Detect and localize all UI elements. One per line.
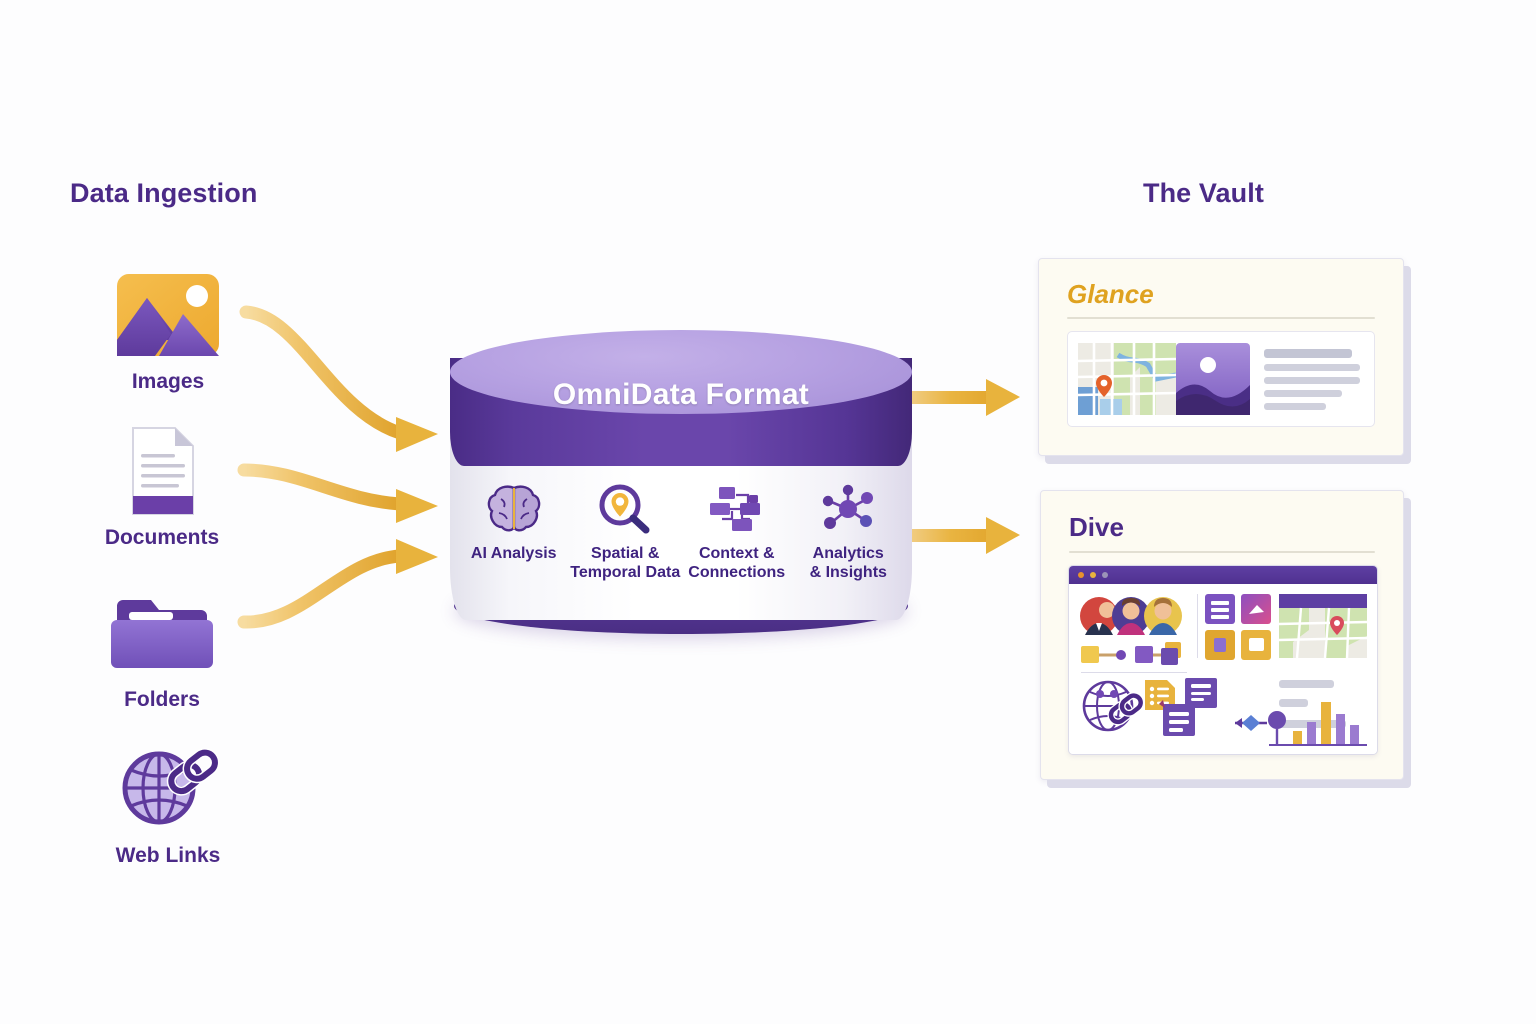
- arrow-folders-to-cylinder: [244, 539, 438, 622]
- content-tiles-icon: [1205, 594, 1271, 660]
- chart-tree-marker: [1268, 711, 1286, 744]
- card-divider: [1069, 551, 1375, 553]
- source-item-images[interactable]: Images: [58, 268, 278, 394]
- document-icon: [103, 424, 221, 518]
- brain-icon: [458, 478, 570, 540]
- feature-label-ai-analysis: AI Analysis: [458, 545, 570, 564]
- image-icon: [109, 268, 227, 362]
- feature-label-context-connections: Context & Connections: [681, 545, 793, 583]
- documents-cluster-icon: [1145, 678, 1227, 740]
- source-label-web-links: Web Links: [58, 844, 278, 868]
- cylinder-title: OmniData Format: [450, 378, 912, 412]
- feature-analytics-insights[interactable]: Analytics & Insights: [793, 478, 905, 583]
- arrow-cylinder-to-glance: [908, 379, 1020, 416]
- source-label-images: Images: [58, 370, 278, 394]
- feature-ai-analysis[interactable]: AI Analysis: [458, 478, 570, 583]
- omnidata-cylinder[interactable]: OmniData Format AI Analysis: [450, 330, 912, 648]
- map-pin-magnifier-icon: [570, 478, 682, 540]
- card-title-glance: Glance: [1067, 279, 1154, 310]
- feature-spatial-temporal[interactable]: Spatial & Temporal Data: [570, 478, 682, 583]
- folder-icon: [103, 586, 221, 680]
- arrow-documents-to-cylinder: [244, 470, 438, 523]
- window-dot-maximize[interactable]: [1102, 572, 1108, 578]
- feature-label-spatial-temporal: Spatial & Temporal Data: [570, 545, 682, 583]
- feature-label-analytics-insights: Analytics & Insights: [793, 545, 905, 583]
- dashboard-content: [1069, 584, 1377, 754]
- feature-context-connections[interactable]: Context & Connections: [681, 478, 793, 583]
- dashboard-map-icon: [1279, 594, 1367, 658]
- image-thumbnail-icon: [1176, 343, 1250, 415]
- globe-link-icon: [1081, 678, 1143, 740]
- source-item-web-links[interactable]: Web Links: [58, 742, 278, 868]
- globe-link-icon: [109, 742, 227, 836]
- cylinder-feature-list: AI Analysis Spatial & Temporal Data: [458, 478, 904, 583]
- dive-dashboard-window[interactable]: [1068, 565, 1378, 755]
- map-thumbnail-icon: [1078, 343, 1176, 415]
- network-graph-icon: [793, 478, 905, 540]
- chart-bars: [1293, 702, 1359, 744]
- window-dot-close[interactable]: [1078, 572, 1084, 578]
- source-label-documents: Documents: [52, 526, 272, 550]
- source-item-documents[interactable]: Documents: [52, 424, 272, 550]
- source-label-folders: Folders: [52, 688, 272, 712]
- page-title-data-ingestion: Data Ingestion: [70, 178, 257, 209]
- card-divider: [1067, 317, 1375, 319]
- browser-titlebar: [1069, 566, 1377, 584]
- glance-preview: [1067, 331, 1375, 427]
- source-item-folders[interactable]: Folders: [52, 586, 272, 712]
- analytics-bar-chart: [1265, 700, 1369, 748]
- panel-divider: [1197, 594, 1198, 658]
- flowchart-nodes-icon: [681, 478, 793, 540]
- vault-card-glance[interactable]: Glance: [1038, 258, 1404, 456]
- mini-flow-icon: [1081, 642, 1193, 668]
- page-title-the-vault: The Vault: [1143, 178, 1264, 209]
- panel-divider: [1081, 672, 1187, 673]
- vault-card-dive[interactable]: Dive: [1040, 490, 1404, 780]
- window-dot-minimize[interactable]: [1090, 572, 1096, 578]
- people-avatars-icon: [1079, 594, 1191, 638]
- card-title-dive: Dive: [1069, 512, 1124, 543]
- glance-text-lines: [1264, 349, 1364, 410]
- arrow-cylinder-to-dive: [908, 517, 1020, 554]
